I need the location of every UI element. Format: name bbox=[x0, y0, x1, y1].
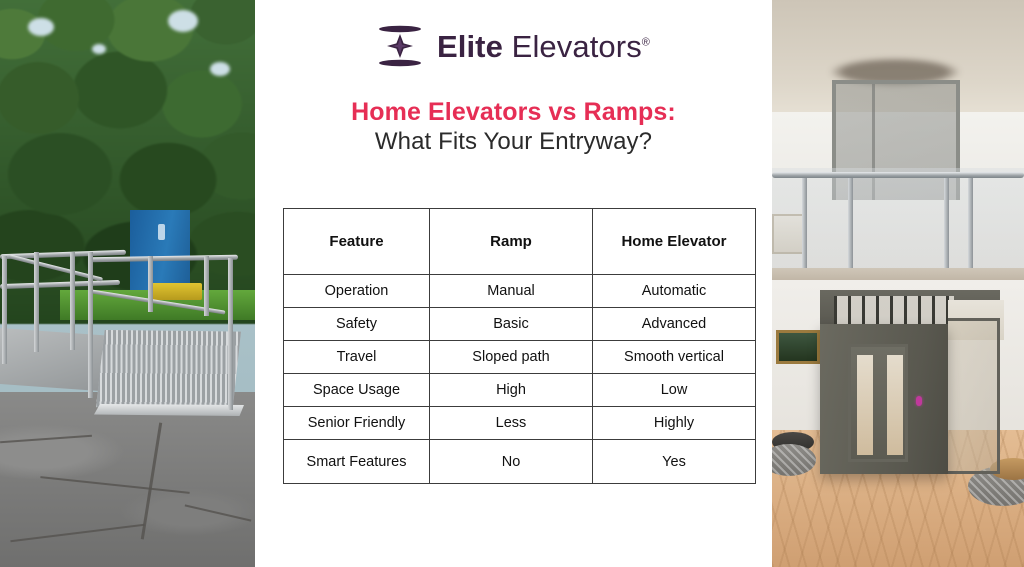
elevator-call-button[interactable] bbox=[916, 396, 922, 406]
balustrade-post bbox=[802, 178, 807, 276]
four-point-star-logo-icon bbox=[377, 22, 423, 70]
center-content-panel: Elite Elevators® Home Elevators vs Ramps… bbox=[255, 0, 772, 567]
building-number bbox=[158, 224, 165, 240]
cell-elevator: Low bbox=[593, 374, 756, 407]
cell-elevator: Automatic bbox=[593, 275, 756, 308]
cell-elevator: Smooth vertical bbox=[593, 341, 756, 374]
cell-ramp: Basic bbox=[430, 308, 593, 341]
balustrade-post bbox=[944, 178, 949, 276]
yellow-object bbox=[150, 283, 202, 300]
cell-ramp: Less bbox=[430, 407, 593, 440]
table-row: Operation Manual Automatic bbox=[284, 275, 756, 308]
sky-gap bbox=[168, 10, 198, 32]
cell-elevator: Highly bbox=[593, 407, 756, 440]
table-body: Operation Manual Automatic Safety Basic … bbox=[284, 275, 756, 484]
cell-ramp: Sloped path bbox=[430, 341, 593, 374]
brand-logo: Elite Elevators® bbox=[255, 22, 772, 70]
door-glass-panel bbox=[887, 355, 903, 455]
rail-post bbox=[228, 258, 233, 410]
rail-post bbox=[204, 256, 209, 316]
table-row: Smart Features No Yes bbox=[284, 440, 756, 484]
registered-mark: ® bbox=[642, 36, 650, 48]
cell-feature: Travel bbox=[284, 341, 430, 374]
cell-feature: Operation bbox=[284, 275, 430, 308]
rail-post bbox=[2, 256, 7, 364]
column-header-ramp: Ramp bbox=[430, 209, 593, 275]
rail-post bbox=[148, 256, 153, 312]
cell-elevator: Advanced bbox=[593, 308, 756, 341]
asphalt-crack bbox=[10, 524, 144, 542]
brand-wordmark: Elite Elevators® bbox=[437, 31, 650, 62]
brand-name-light: Elevators bbox=[512, 29, 642, 64]
glass-balustrade bbox=[772, 168, 1024, 280]
elevator-shaft bbox=[820, 324, 948, 474]
elevator-glass-side bbox=[948, 318, 1000, 474]
cell-ramp: High bbox=[430, 374, 593, 407]
sky-gap bbox=[92, 44, 106, 54]
rail-post bbox=[70, 252, 75, 350]
table-row: Senior Friendly Less Highly bbox=[284, 407, 756, 440]
column-header-home-elevator: Home Elevator bbox=[593, 209, 756, 275]
page-title-secondary: What Fits Your Entryway? bbox=[255, 128, 772, 156]
cell-feature: Safety bbox=[284, 308, 430, 341]
table-header-row: Feature Ramp Home Elevator bbox=[284, 209, 756, 275]
page-title-primary: Home Elevators vs Ramps: bbox=[255, 98, 772, 127]
cell-elevator: Yes bbox=[593, 440, 756, 484]
asphalt-crack bbox=[40, 476, 189, 494]
cell-feature: Senior Friendly bbox=[284, 407, 430, 440]
balustrade-post bbox=[968, 178, 973, 276]
door-glass-panel bbox=[857, 355, 873, 455]
table-row: Travel Sloped path Smooth vertical bbox=[284, 341, 756, 374]
ramp-photo bbox=[0, 0, 255, 567]
home-elevator-photo bbox=[772, 0, 1024, 567]
cell-ramp: No bbox=[430, 440, 593, 484]
table-row: Safety Basic Advanced bbox=[284, 308, 756, 341]
brand-name-bold: Elite bbox=[437, 29, 503, 64]
table-row: Space Usage High Low bbox=[284, 374, 756, 407]
elevator-door bbox=[848, 344, 908, 462]
rail-post bbox=[34, 252, 39, 352]
asphalt-ground bbox=[0, 392, 255, 567]
sky-gap bbox=[28, 18, 54, 36]
poster-canvas: Elite Elevators® Home Elevators vs Ramps… bbox=[0, 0, 1024, 567]
cell-ramp: Manual bbox=[430, 275, 593, 308]
rail-post bbox=[88, 252, 93, 398]
cell-feature: Smart Features bbox=[284, 440, 430, 484]
balustrade-post bbox=[848, 178, 853, 276]
asphalt-crack bbox=[185, 504, 252, 521]
ramp-steel-grating bbox=[96, 330, 241, 412]
framed-painting bbox=[776, 330, 820, 364]
column-header-feature: Feature bbox=[284, 209, 430, 275]
table-header: Feature Ramp Home Elevator bbox=[284, 209, 756, 275]
sky-gap bbox=[210, 62, 230, 76]
balustrade-handrail bbox=[772, 172, 1024, 178]
comparison-table: Feature Ramp Home Elevator Operation Man… bbox=[283, 208, 756, 484]
asphalt-crack bbox=[141, 422, 162, 539]
asphalt-crack bbox=[0, 435, 92, 443]
cell-feature: Space Usage bbox=[284, 374, 430, 407]
ramp-edge-lip bbox=[94, 404, 244, 416]
